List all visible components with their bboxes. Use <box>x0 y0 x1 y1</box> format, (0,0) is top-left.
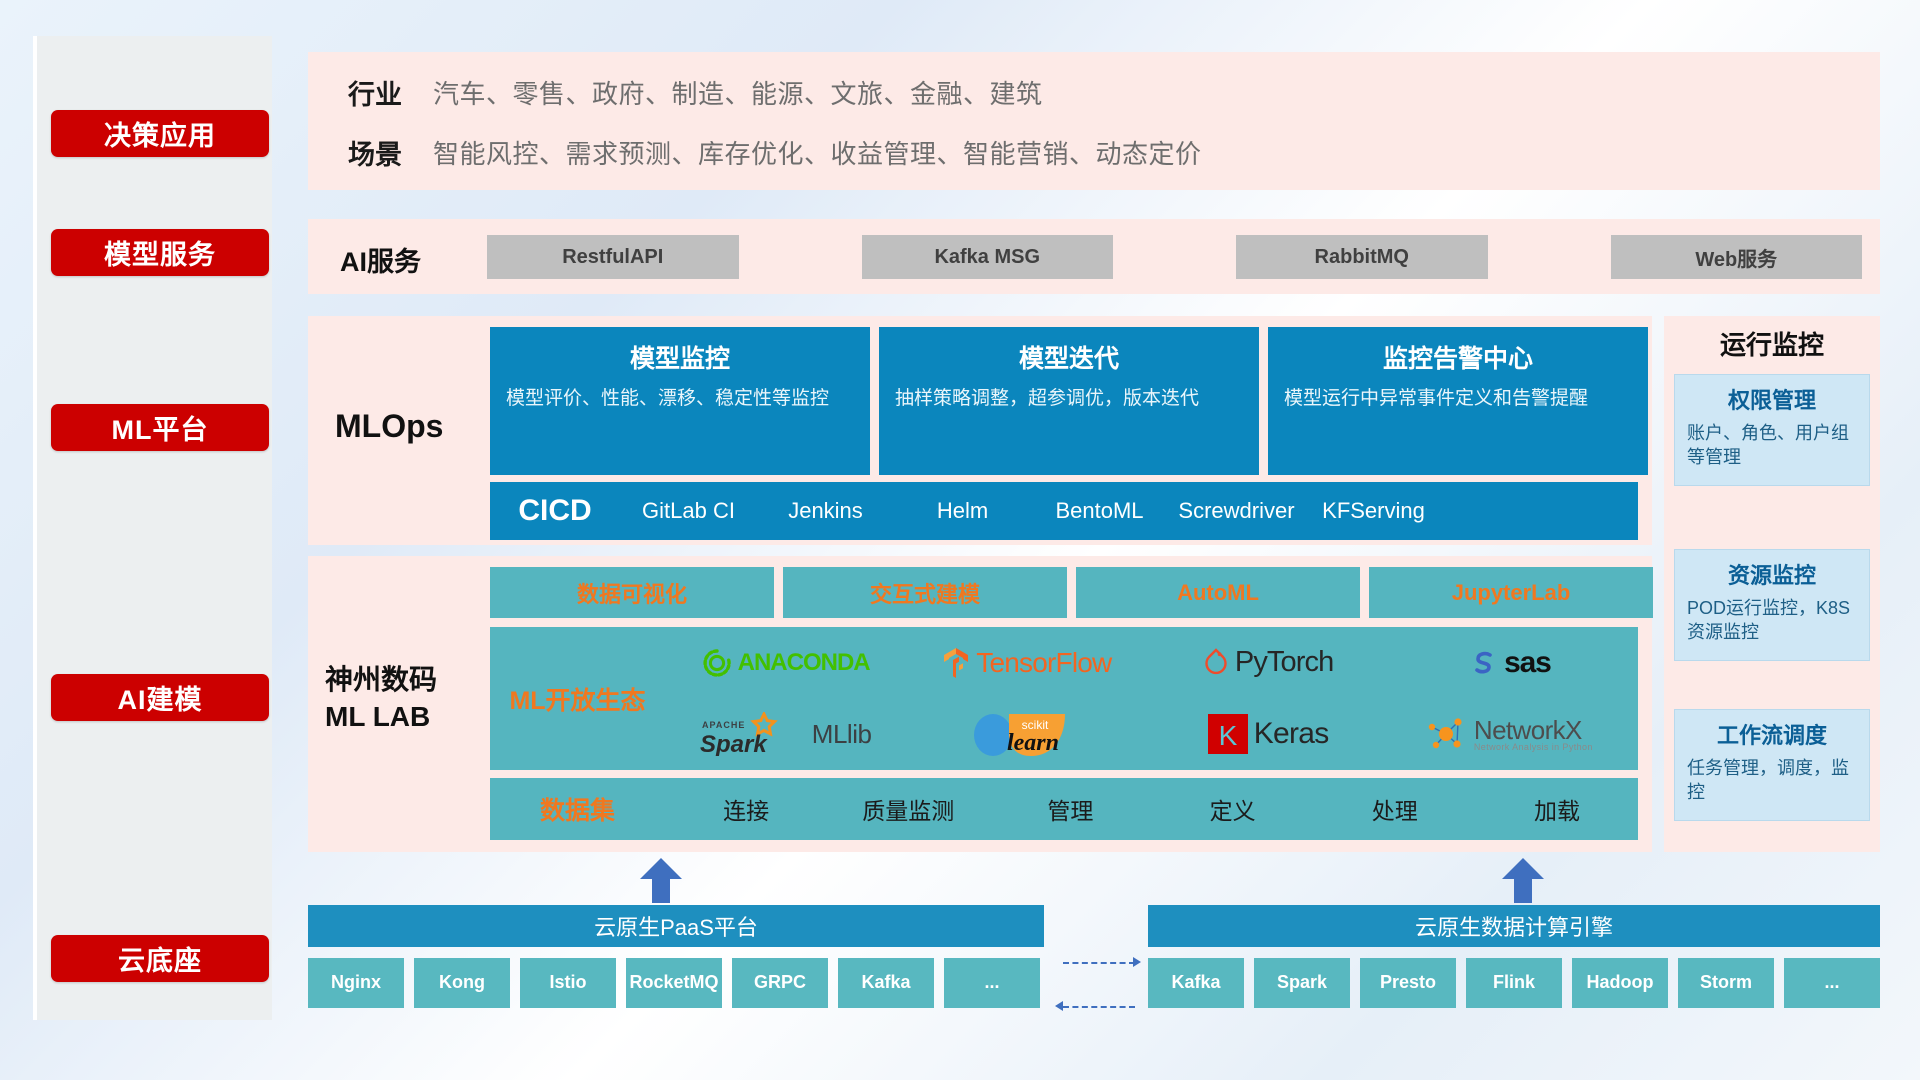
pytorch-label: PyTorch <box>1235 646 1333 679</box>
scikit-learn-logo: scikit learn <box>969 708 1085 760</box>
scenario-row: 场景 智能风控、需求预测、库存优化、收益管理、智能营销、动态定价 <box>308 122 1880 182</box>
cicd-item-bentoml[interactable]: BentoML <box>1031 497 1168 525</box>
monitor-card-permission[interactable]: 权限管理 账户、角色、用户组等管理 <box>1674 374 1870 486</box>
ml-open-ecosystem-box: ML开放生态 ANACONDA TensorFlow <box>490 627 1638 770</box>
cicd-title: CICD <box>490 494 620 528</box>
ai-service-label: AI服务 <box>340 240 470 279</box>
tensorflow-logo: TensorFlow <box>942 647 1111 679</box>
paas-chip-rocketmq[interactable]: RocketMQ <box>626 958 722 1008</box>
pytorch-logo: PyTorch <box>1203 646 1333 679</box>
engine-chip-storm[interactable]: Storm <box>1678 958 1774 1008</box>
cicd-item-jenkins[interactable]: Jenkins <box>757 497 894 525</box>
service-chip-restfulapi[interactable]: RestfulAPI <box>487 235 739 279</box>
keras-icon: K <box>1208 714 1248 754</box>
networkx-icon <box>1426 714 1468 754</box>
scenario-label: 场景 <box>308 133 433 172</box>
ml-lab-label: 神州数码 ML LAB <box>325 662 490 736</box>
rail-chip-model-serving[interactable]: 模型服务 <box>51 229 269 276</box>
engine-chip-hadoop[interactable]: Hadoop <box>1572 958 1668 1008</box>
dataset-item-processing[interactable]: 处理 <box>1314 792 1476 826</box>
architecture-diagram: 决策应用 模型服务 ML平台 AI建模 云底座 行业 汽车、零售、政府、制造、能… <box>0 0 1920 1080</box>
svg-text:APACHE: APACHE <box>702 720 745 730</box>
mllib-label: MLlib <box>812 719 872 750</box>
card-title: 监控告警中心 <box>1284 339 1632 375</box>
tool-chip-automl[interactable]: AutoML <box>1076 567 1360 618</box>
rail-chip-ml-platform[interactable]: ML平台 <box>51 404 269 451</box>
dataset-item-loading[interactable]: 加载 <box>1476 792 1638 826</box>
engine-chip-row: Kafka Spark Presto Flink Hadoop Storm ..… <box>1148 958 1880 1008</box>
paas-platform-bar: 云原生PaaS平台 <box>308 905 1044 947</box>
card-title: 权限管理 <box>1687 383 1857 415</box>
rail-chip-ai-modeling[interactable]: AI建模 <box>51 674 269 721</box>
card-title: 资源监控 <box>1687 558 1857 590</box>
service-chip-kafka-msg[interactable]: Kafka MSG <box>862 235 1114 279</box>
rail-chip-decision[interactable]: 决策应用 <box>51 110 269 157</box>
scikit-learn-icon: scikit learn <box>969 708 1085 760</box>
keras-logo: K Keras <box>1208 714 1329 754</box>
keras-label: Keras <box>1254 717 1329 751</box>
anaconda-icon <box>702 648 732 678</box>
ml-lab-label-line1: 神州数码 <box>325 662 490 699</box>
tensorflow-icon <box>942 647 970 679</box>
cicd-bar: CICD GitLab CI Jenkins Helm BentoML Scre… <box>490 482 1638 540</box>
mlops-card-model-iteration[interactable]: 模型迭代 抽样策略调整，超参调优，版本迭代 <box>879 327 1259 475</box>
paas-chip-kafka[interactable]: Kafka <box>838 958 934 1008</box>
dashed-link-left <box>1063 1006 1135 1008</box>
sas-icon <box>1468 648 1498 678</box>
ecosystem-logo-grid: ANACONDA TensorFlow PyTorch <box>665 627 1638 770</box>
data-engine-bar: 云原生数据计算引擎 <box>1148 905 1880 947</box>
spark-icon: APACHE Spark <box>700 712 806 756</box>
engine-chip-flink[interactable]: Flink <box>1466 958 1562 1008</box>
ai-service-chip-row: RestfulAPI Kafka MSG RabbitMQ Web服务 <box>487 235 1862 279</box>
mlops-label: MLOps <box>335 408 443 445</box>
dataset-item-definition[interactable]: 定义 <box>1152 792 1314 826</box>
service-chip-web[interactable]: Web服务 <box>1611 235 1863 279</box>
card-desc: POD运行监控，K8S资源监控 <box>1687 596 1857 645</box>
paas-chip-kong[interactable]: Kong <box>414 958 510 1008</box>
card-desc: 模型评价、性能、漂移、稳定性等监控 <box>506 386 854 412</box>
monitor-card-workflow[interactable]: 工作流调度 任务管理，调度，监控 <box>1674 709 1870 821</box>
svg-text:Spark: Spark <box>700 731 768 756</box>
card-desc: 抽样策略调整，超参调优，版本迭代 <box>895 386 1243 412</box>
tool-chip-data-visualization[interactable]: 数据可视化 <box>490 567 774 618</box>
ml-lab-label-line2: ML LAB <box>325 699 490 736</box>
card-title: 模型监控 <box>506 339 854 375</box>
paas-chip-istio[interactable]: Istio <box>520 958 616 1008</box>
dashed-arrow-left <box>1055 1001 1063 1011</box>
paas-chip-more[interactable]: ... <box>944 958 1040 1008</box>
dashed-arrow-right <box>1133 957 1141 967</box>
svg-text:K: K <box>1218 720 1237 751</box>
sas-logo: sas <box>1468 646 1550 680</box>
runtime-monitor-title: 运行监控 <box>1664 325 1880 362</box>
card-desc: 模型运行中异常事件定义和告警提醒 <box>1284 386 1632 412</box>
industry-row: 行业 汽车、零售、政府、制造、能源、文旅、金融、建筑 <box>308 62 1880 122</box>
industry-value: 汽车、零售、政府、制造、能源、文旅、金融、建筑 <box>433 74 1043 111</box>
sas-label: sas <box>1504 646 1550 680</box>
svg-text:learn: learn <box>1007 730 1059 756</box>
spark-mllib-logo: APACHE Spark MLlib <box>700 712 872 756</box>
engine-chip-presto[interactable]: Presto <box>1360 958 1456 1008</box>
card-desc: 账户、角色、用户组等管理 <box>1687 421 1857 470</box>
paas-chip-nginx[interactable]: Nginx <box>308 958 404 1008</box>
tool-chip-jupyterlab[interactable]: JupyterLab <box>1369 567 1653 618</box>
cicd-item-gitlab-ci[interactable]: GitLab CI <box>620 497 757 525</box>
scenario-value: 智能风控、需求预测、库存优化、收益管理、智能营销、动态定价 <box>433 134 1202 171</box>
card-desc: 任务管理，调度，监控 <box>1687 756 1857 805</box>
pytorch-icon <box>1203 647 1229 679</box>
monitor-card-resource[interactable]: 资源监控 POD运行监控，K8S资源监控 <box>1674 549 1870 661</box>
anaconda-label: ANACONDA <box>738 649 870 677</box>
cicd-item-kfserving[interactable]: KFServing <box>1305 497 1442 525</box>
dataset-item-quality-monitoring[interactable]: 质量监测 <box>827 792 989 826</box>
dashed-link-right <box>1063 962 1135 964</box>
industry-label: 行业 <box>308 73 433 112</box>
mlops-card-alert-center[interactable]: 监控告警中心 模型运行中异常事件定义和告警提醒 <box>1268 327 1648 475</box>
dataset-title: 数据集 <box>490 791 665 827</box>
card-title: 工作流调度 <box>1687 718 1857 750</box>
networkx-label: NetworkX <box>1474 717 1593 743</box>
card-title: 模型迭代 <box>895 339 1243 375</box>
tool-chip-interactive-modeling[interactable]: 交互式建模 <box>783 567 1067 618</box>
tensorflow-label: TensorFlow <box>976 647 1111 679</box>
rail-chip-cloud-base[interactable]: 云底座 <box>51 935 269 982</box>
anaconda-logo: ANACONDA <box>702 648 870 678</box>
networkx-tagline: Network Analysis in Python <box>1474 743 1593 752</box>
dataset-item-management[interactable]: 管理 <box>989 792 1151 826</box>
mlops-card-model-monitoring[interactable]: 模型监控 模型评价、性能、漂移、稳定性等监控 <box>490 327 870 475</box>
modeling-tool-row: 数据可视化 交互式建模 AutoML JupyterLab <box>490 567 1653 618</box>
networkx-logo: NetworkX Network Analysis in Python <box>1426 714 1593 754</box>
mlops-card-row: 模型监控 模型评价、性能、漂移、稳定性等监控 模型迭代 抽样策略调整，超参调优，… <box>490 327 1648 475</box>
dataset-bar: 数据集 连接 质量监测 管理 定义 处理 加载 <box>490 778 1638 840</box>
engine-chip-kafka[interactable]: Kafka <box>1148 958 1244 1008</box>
dataset-item-connect[interactable]: 连接 <box>665 792 827 826</box>
cicd-item-helm[interactable]: Helm <box>894 497 1031 525</box>
cicd-item-screwdriver[interactable]: Screwdriver <box>1168 497 1305 525</box>
left-rail: 决策应用 模型服务 ML平台 AI建模 云底座 <box>33 36 272 1020</box>
paas-chip-row: Nginx Kong Istio RocketMQ GRPC Kafka ... <box>308 958 1040 1008</box>
service-chip-rabbitmq[interactable]: RabbitMQ <box>1236 235 1488 279</box>
ml-open-ecosystem-label: ML开放生态 <box>490 681 665 717</box>
paas-chip-grpc[interactable]: GRPC <box>732 958 828 1008</box>
engine-chip-more[interactable]: ... <box>1784 958 1880 1008</box>
engine-chip-spark[interactable]: Spark <box>1254 958 1350 1008</box>
